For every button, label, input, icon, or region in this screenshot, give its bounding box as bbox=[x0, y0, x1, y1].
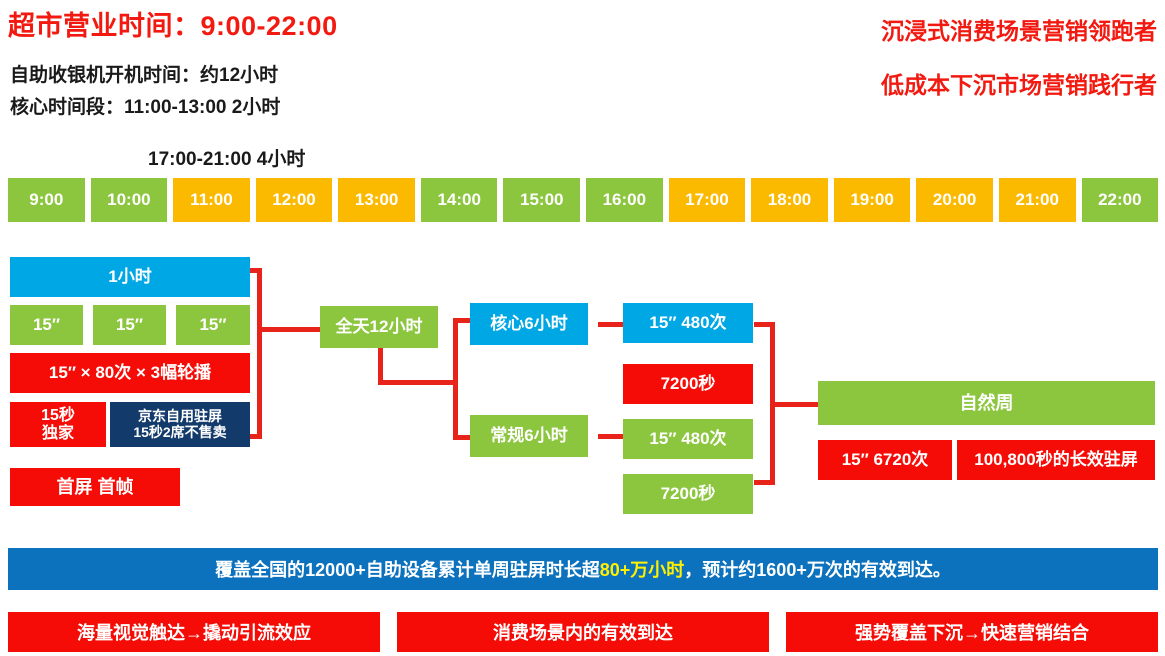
box-normal-seconds[interactable]: 7200秒 bbox=[623, 474, 753, 514]
box-normal-6h[interactable]: 常规6小时 bbox=[470, 415, 588, 457]
box-slot-a[interactable]: 15″ bbox=[10, 305, 83, 345]
box-normal-count[interactable]: 15″ 480次 bbox=[623, 419, 753, 459]
banner-text-part-1: 覆盖全国的12000+自助设备累计单周驻屏时长超 bbox=[215, 556, 600, 582]
box-week-count[interactable]: 15″ 6720次 bbox=[818, 440, 952, 480]
timeline-slot[interactable]: 11:00 bbox=[173, 178, 250, 222]
connector-right-bracket-bottom bbox=[754, 480, 775, 485]
timeline-slot[interactable]: 22:00 bbox=[1082, 178, 1159, 222]
connector-week-stub bbox=[773, 402, 821, 407]
box-exclusive[interactable]: 15秒 独家 bbox=[10, 402, 106, 447]
footer-box-2[interactable]: 消费场景内的有效到达 bbox=[397, 612, 769, 652]
box-reserved-seats[interactable]: 京东自用驻屏 15秒2席不售卖 bbox=[110, 402, 250, 447]
connector-split-top bbox=[453, 318, 471, 323]
exclusive-line-2: 独家 bbox=[42, 425, 74, 443]
header-subline-2: 核心时间段：11:00-13:00 2小时 bbox=[10, 92, 280, 119]
footer-box-3[interactable]: 强势覆盖下沉→快速营销结合 bbox=[786, 612, 1158, 652]
box-core-count[interactable]: 15″ 480次 bbox=[623, 303, 753, 343]
timeline-slot[interactable]: 16:00 bbox=[586, 178, 663, 222]
timeline-slot[interactable]: 14:00 bbox=[421, 178, 498, 222]
reserved-line-2: 15秒2席不售卖 bbox=[133, 425, 226, 441]
timeline-slot[interactable]: 21:00 bbox=[999, 178, 1076, 222]
connector-split-spine bbox=[453, 318, 458, 440]
box-slot-c[interactable]: 15″ bbox=[176, 305, 250, 345]
box-natural-week[interactable]: 自然周 bbox=[818, 381, 1155, 425]
box-all-day[interactable]: 全天12小时 bbox=[320, 306, 438, 348]
slogan-line-2: 低成本下沉市场营销践行者 bbox=[881, 66, 1157, 100]
connector-core-to-count bbox=[598, 322, 624, 327]
connector-allday-across bbox=[378, 380, 458, 385]
header-subline-1: 自助收银机开机时间：约12小时 bbox=[10, 60, 278, 87]
timeline-slot[interactable]: 9:00 bbox=[8, 178, 85, 222]
box-slot-b[interactable]: 15″ bbox=[93, 305, 166, 345]
timeline-slot[interactable]: 15:00 bbox=[503, 178, 580, 222]
slogan-line-1: 沉浸式消费场景营销领跑者 bbox=[881, 12, 1157, 46]
connector-left-bracket-spine bbox=[257, 268, 262, 439]
exclusive-line-1: 15秒 bbox=[41, 407, 75, 425]
timeline-slot[interactable]: 12:00 bbox=[256, 178, 333, 222]
connector-allday-down bbox=[378, 345, 383, 383]
timeline-slot[interactable]: 10:00 bbox=[91, 178, 168, 222]
banner-highlight: 80+万小时 bbox=[600, 556, 685, 582]
box-core-seconds[interactable]: 7200秒 bbox=[623, 364, 753, 404]
timeline-slot[interactable]: 13:00 bbox=[338, 178, 415, 222]
box-week-seconds[interactable]: 100,800秒的长效驻屏 bbox=[957, 440, 1155, 480]
box-core-6h[interactable]: 核心6小时 bbox=[470, 303, 588, 345]
connector-normal-to-count bbox=[598, 434, 624, 439]
box-first-frame[interactable]: 首屏 首帧 bbox=[10, 468, 180, 506]
infographic-page: 超市营业时间：9:00-22:00 自助收银机开机时间：约12小时 核心时间段：… bbox=[0, 0, 1165, 656]
timeline-slot[interactable]: 19:00 bbox=[834, 178, 911, 222]
connector-allday-stub bbox=[260, 327, 322, 332]
timeline-slot[interactable]: 17:00 bbox=[669, 178, 746, 222]
hours-timeline: 9:00 10:00 11:00 12:00 13:00 14:00 15:00… bbox=[8, 178, 1158, 222]
banner-text-part-2: ，预计约1600+万次的有效到达。 bbox=[684, 556, 951, 582]
connector-right-bracket-top bbox=[754, 322, 775, 327]
timeline-slot[interactable]: 18:00 bbox=[751, 178, 828, 222]
header-subline-3: 17:00-21:00 4小时 bbox=[148, 144, 305, 171]
connector-split-bottom bbox=[453, 435, 471, 440]
page-title: 超市营业时间：9:00-22:00 bbox=[8, 4, 338, 43]
box-rotation-formula[interactable]: 15″ × 80次 × 3幅轮播 bbox=[10, 353, 250, 393]
footer-box-1[interactable]: 海量视觉触达→撬动引流效应 bbox=[8, 612, 380, 652]
summary-banner: 覆盖全国的12000+自助设备累计单周驻屏时长超 80+万小时 ，预计约1600… bbox=[8, 548, 1158, 590]
reserved-line-1: 京东自用驻屏 bbox=[138, 409, 222, 425]
timeline-slot[interactable]: 20:00 bbox=[916, 178, 993, 222]
box-one-hour[interactable]: 1小时 bbox=[10, 257, 250, 297]
